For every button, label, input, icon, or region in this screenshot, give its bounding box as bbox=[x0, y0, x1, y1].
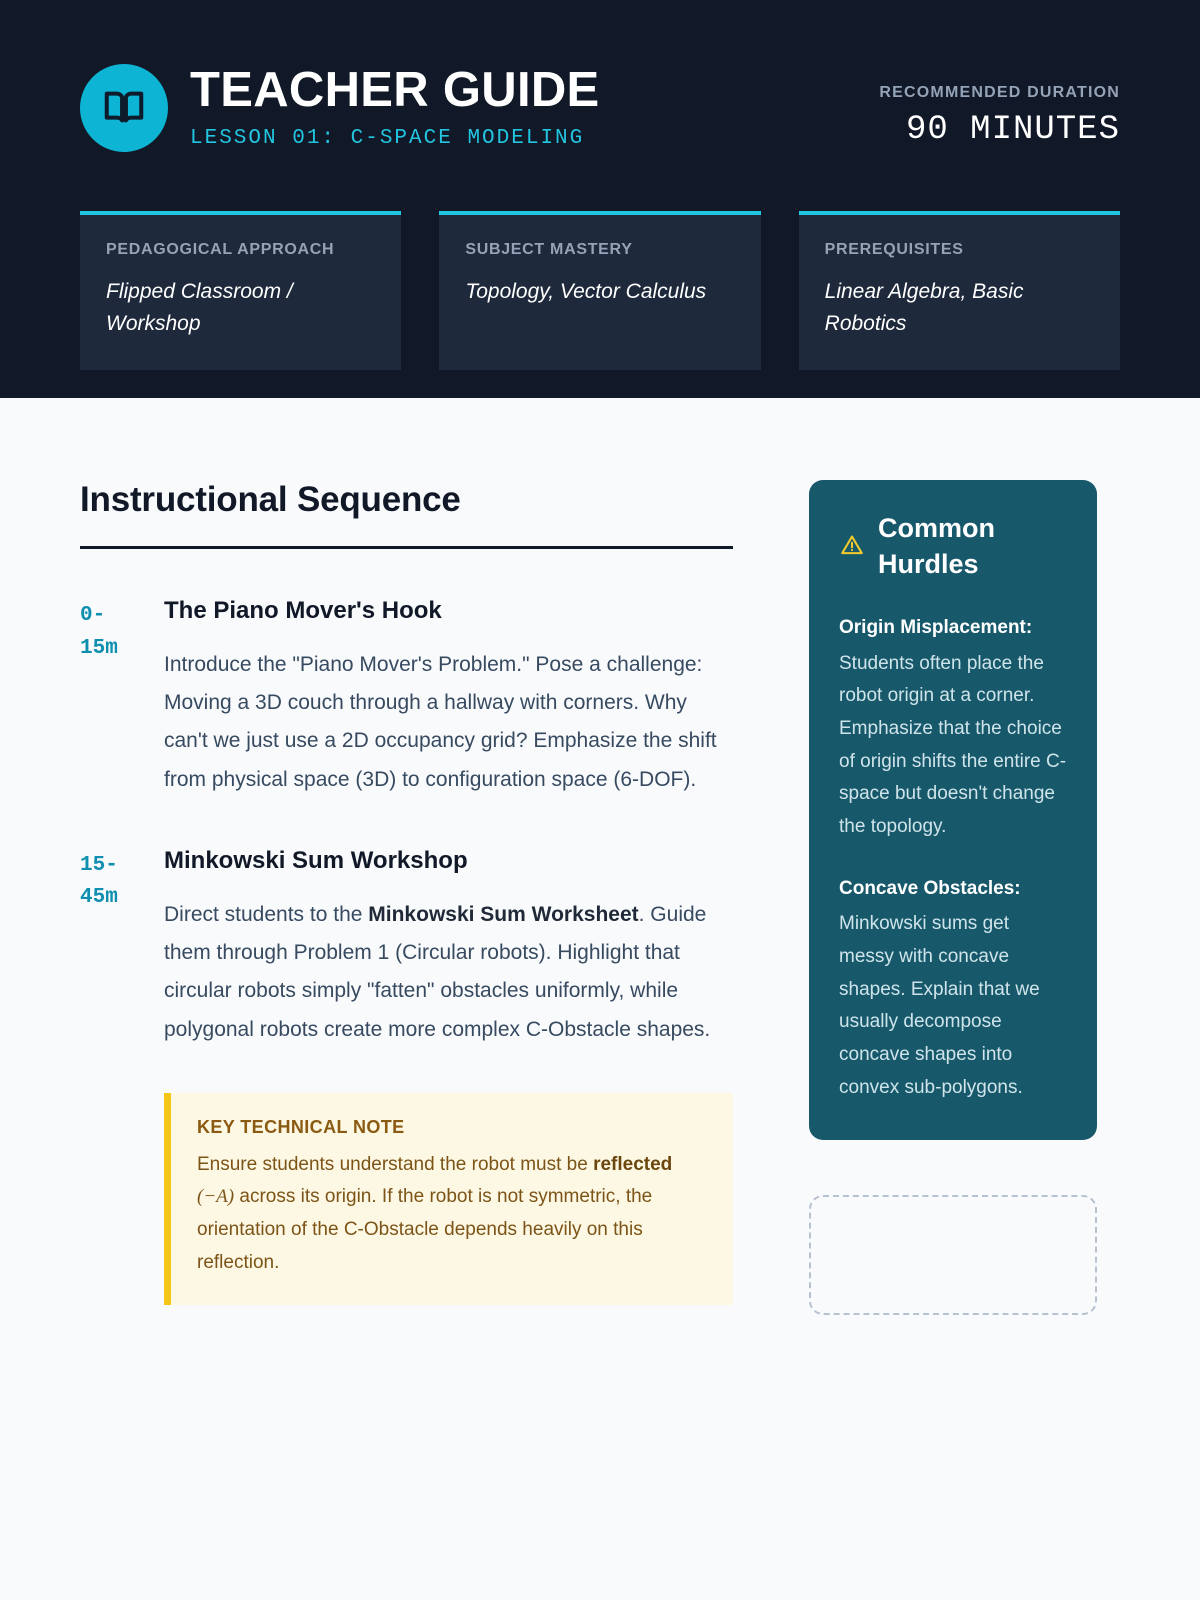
sequence-item-piano-mover: 0-15m The Piano Mover's Hook Introduce t… bbox=[80, 597, 733, 799]
sequence-timestamp: 15-45m bbox=[80, 847, 136, 1306]
common-hurdles-header: Common Hurdles bbox=[839, 510, 1067, 583]
sequence-text-lead: Direct students to the bbox=[164, 903, 368, 926]
hurdle-concave-obstacles: Concave Obstacles:Minkowski sums get mes… bbox=[839, 873, 1067, 1105]
meta-card-row: PEDAGOGICAL APPROACH Flipped Classroom /… bbox=[80, 211, 1120, 370]
page-title: TEACHER GUIDE bbox=[190, 64, 600, 117]
sequence-body: The Piano Mover's Hook Introduce the "Pi… bbox=[164, 597, 733, 799]
meta-card-label: SUBJECT MASTERY bbox=[465, 241, 734, 259]
key-technical-note: KEY TECHNICAL NOTE Ensure students under… bbox=[164, 1093, 733, 1306]
sequence-heading: Minkowski Sum Workshop bbox=[164, 847, 733, 875]
common-hurdles-panel: Common Hurdles Origin Misplacement:Stude… bbox=[809, 480, 1097, 1140]
sequence-body: Minkowski Sum Workshop Direct students t… bbox=[164, 847, 733, 1306]
note-text: Ensure students understand the robot mus… bbox=[197, 1149, 707, 1280]
page-body: Instructional Sequence 0-15m The Piano M… bbox=[0, 398, 1200, 1315]
sequence-heading: The Piano Mover's Hook bbox=[164, 597, 733, 625]
common-hurdles-title: Common Hurdles bbox=[878, 510, 1067, 583]
sidebar-column: Common Hurdles Origin Misplacement:Stude… bbox=[809, 480, 1097, 1315]
duration-value: 90 MINUTES bbox=[879, 111, 1120, 149]
hurdle-term: Concave Obstacles: bbox=[839, 873, 1067, 906]
placeholder-dashed-box bbox=[809, 1195, 1097, 1315]
hurdle-text: Students often place the robot origin at… bbox=[839, 653, 1066, 837]
open-book-icon bbox=[80, 64, 168, 152]
sequence-text-emphasis: Minkowski Sum Worksheet bbox=[368, 903, 638, 926]
title-block: TEACHER GUIDE LESSON 01: C-SPACE MODELIN… bbox=[190, 62, 600, 150]
sequence-item-minkowski-workshop: 15-45m Minkowski Sum Workshop Direct stu… bbox=[80, 847, 733, 1306]
sequence-timestamp: 0-15m bbox=[80, 597, 136, 799]
header-top-row: TEACHER GUIDE LESSON 01: C-SPACE MODELIN… bbox=[80, 62, 1120, 152]
hurdle-term: Origin Misplacement: bbox=[839, 612, 1067, 645]
meta-card-label: PREREQUISITES bbox=[825, 241, 1094, 259]
duration-label: RECOMMENDED DURATION bbox=[879, 84, 1120, 102]
sequence-text: Direct students to the Minkowski Sum Wor… bbox=[164, 896, 733, 1049]
note-title: KEY TECHNICAL NOTE bbox=[197, 1117, 707, 1138]
meta-card-label: PEDAGOGICAL APPROACH bbox=[106, 241, 375, 259]
brand-block: TEACHER GUIDE LESSON 01: C-SPACE MODELIN… bbox=[80, 62, 600, 152]
instructional-sequence-column: Instructional Sequence 0-15m The Piano M… bbox=[80, 480, 733, 1305]
meta-card-value: Flipped Classroom / Workshop bbox=[106, 276, 375, 340]
duration-block: RECOMMENDED DURATION 90 MINUTES bbox=[879, 62, 1120, 149]
meta-card-value: Topology, Vector Calculus bbox=[465, 276, 734, 308]
hurdle-origin-misplacement: Origin Misplacement:Students often place… bbox=[839, 612, 1067, 844]
meta-card-pedagogical-approach: PEDAGOGICAL APPROACH Flipped Classroom /… bbox=[80, 211, 401, 370]
lesson-subtitle: LESSON 01: C-SPACE MODELING bbox=[190, 127, 600, 150]
warning-triangle-icon bbox=[839, 532, 865, 563]
section-divider bbox=[80, 546, 733, 549]
note-text-tail: across its origin. If the robot is not s… bbox=[197, 1186, 652, 1272]
meta-card-subject-mastery: SUBJECT MASTERY Topology, Vector Calculu… bbox=[439, 211, 760, 370]
meta-card-value: Linear Algebra, Basic Robotics bbox=[825, 276, 1094, 340]
hurdle-text: Minkowski sums get messy with concave sh… bbox=[839, 913, 1040, 1097]
sequence-text: Introduce the "Piano Mover's Problem." P… bbox=[164, 646, 733, 799]
meta-card-prerequisites: PREREQUISITES Linear Algebra, Basic Robo… bbox=[799, 211, 1120, 370]
section-title: Instructional Sequence bbox=[80, 480, 733, 520]
note-math-expression: (−A) bbox=[197, 1186, 234, 1207]
page-header: TEACHER GUIDE LESSON 01: C-SPACE MODELIN… bbox=[0, 0, 1200, 398]
note-text-lead: Ensure students understand the robot mus… bbox=[197, 1154, 593, 1175]
note-text-emphasis: reflected bbox=[593, 1154, 672, 1175]
